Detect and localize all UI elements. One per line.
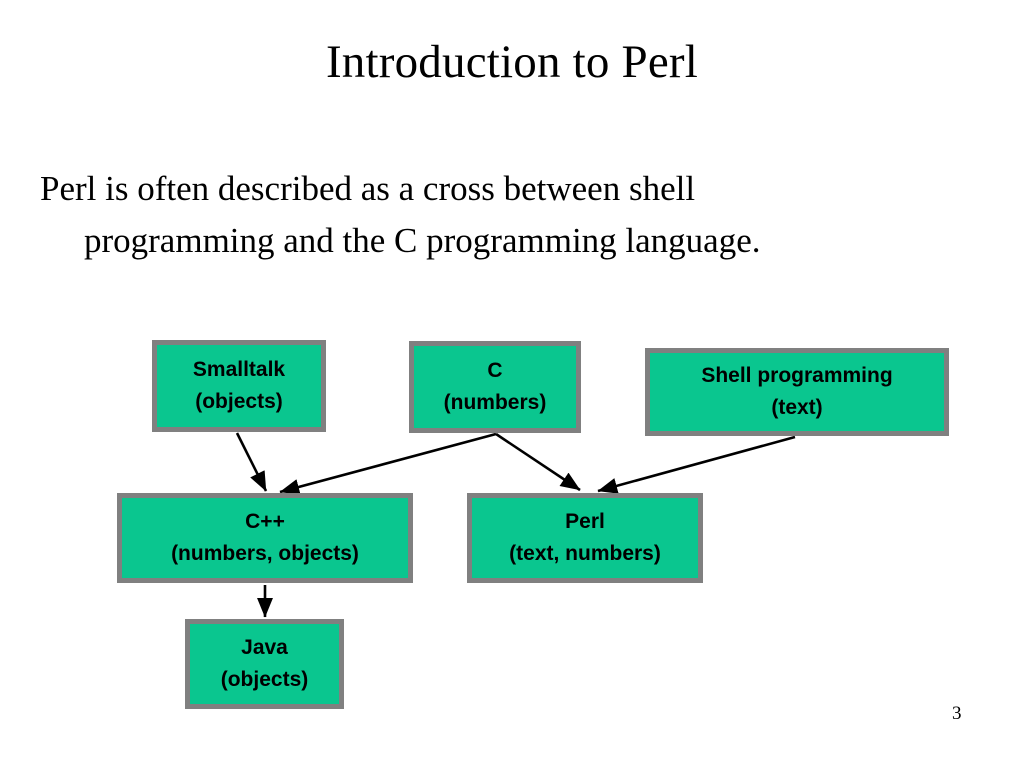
edge-smalltalk-to-cpp bbox=[237, 433, 266, 491]
edge-c-to-perl bbox=[496, 434, 580, 490]
node-smalltalk[interactable]: Smalltalk (objects) bbox=[152, 340, 326, 432]
node-cpp-sublabel: (numbers, objects) bbox=[171, 538, 359, 570]
node-perl-label: Perl bbox=[565, 506, 605, 538]
node-smalltalk-sublabel: (objects) bbox=[195, 386, 283, 418]
edge-c-to-cpp bbox=[280, 434, 496, 492]
node-java-sublabel: (objects) bbox=[221, 664, 309, 696]
node-c[interactable]: C (numbers) bbox=[409, 341, 581, 433]
node-perl[interactable]: Perl (text, numbers) bbox=[467, 493, 703, 583]
node-java-label: Java bbox=[241, 632, 288, 664]
node-cpp[interactable]: C++ (numbers, objects) bbox=[117, 493, 413, 583]
slide-canvas: Introduction to Perl Perl is often descr… bbox=[0, 0, 1024, 768]
node-shell-programming-label: Shell programming bbox=[701, 360, 892, 392]
node-c-sublabel: (numbers) bbox=[444, 387, 547, 419]
language-influence-diagram: Smalltalk (objects) C (numbers) Shell pr… bbox=[0, 0, 1024, 768]
node-cpp-label: C++ bbox=[245, 506, 285, 538]
node-shell-programming-sublabel: (text) bbox=[771, 392, 822, 424]
node-shell-programming[interactable]: Shell programming (text) bbox=[645, 348, 949, 436]
node-smalltalk-label: Smalltalk bbox=[193, 354, 285, 386]
node-perl-sublabel: (text, numbers) bbox=[509, 538, 661, 570]
node-c-label: C bbox=[487, 355, 502, 387]
node-java[interactable]: Java (objects) bbox=[185, 619, 344, 709]
edge-shell-to-perl bbox=[598, 437, 795, 491]
page-number: 3 bbox=[952, 703, 962, 725]
